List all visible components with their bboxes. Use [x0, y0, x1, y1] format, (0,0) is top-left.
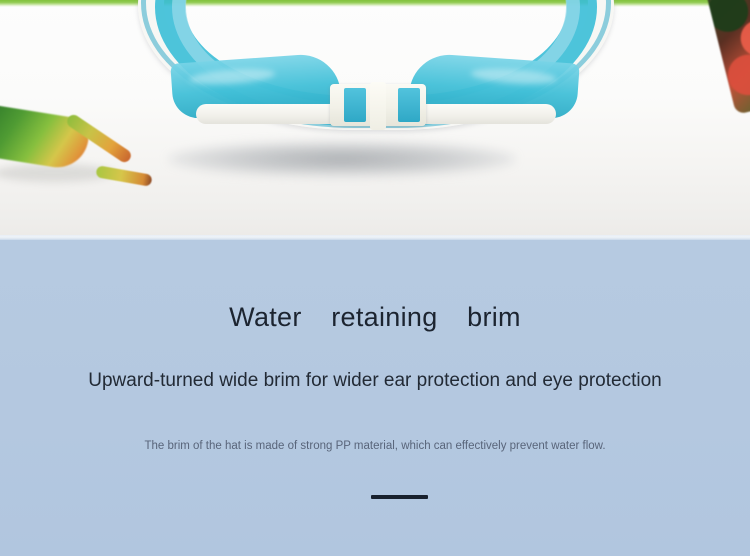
decorative-leaf-right	[705, 0, 750, 115]
product-photo	[0, 0, 750, 240]
tab-gloss-right	[470, 66, 557, 86]
feature-caption: The brim of the hat is made of strong PP…	[0, 440, 750, 452]
tab-gloss-left	[189, 67, 276, 87]
foliage-sprig-left	[0, 108, 134, 198]
product-detail-page: Water retaining brim Upward-turned wide …	[0, 0, 750, 556]
divider-dash	[371, 495, 428, 499]
feature-heading: Water retaining brim	[0, 302, 750, 333]
buckle-slot-left	[344, 88, 366, 122]
feature-text-panel	[0, 240, 750, 556]
foliage-stem-lower	[95, 165, 152, 187]
feature-subheading: Upward-turned wide brim for wider ear pr…	[0, 370, 750, 392]
buckle-center-post	[370, 82, 386, 130]
buckle-slot-right	[398, 88, 420, 122]
foliage-leaf-body	[0, 104, 91, 172]
product-drop-shadow	[168, 141, 516, 177]
